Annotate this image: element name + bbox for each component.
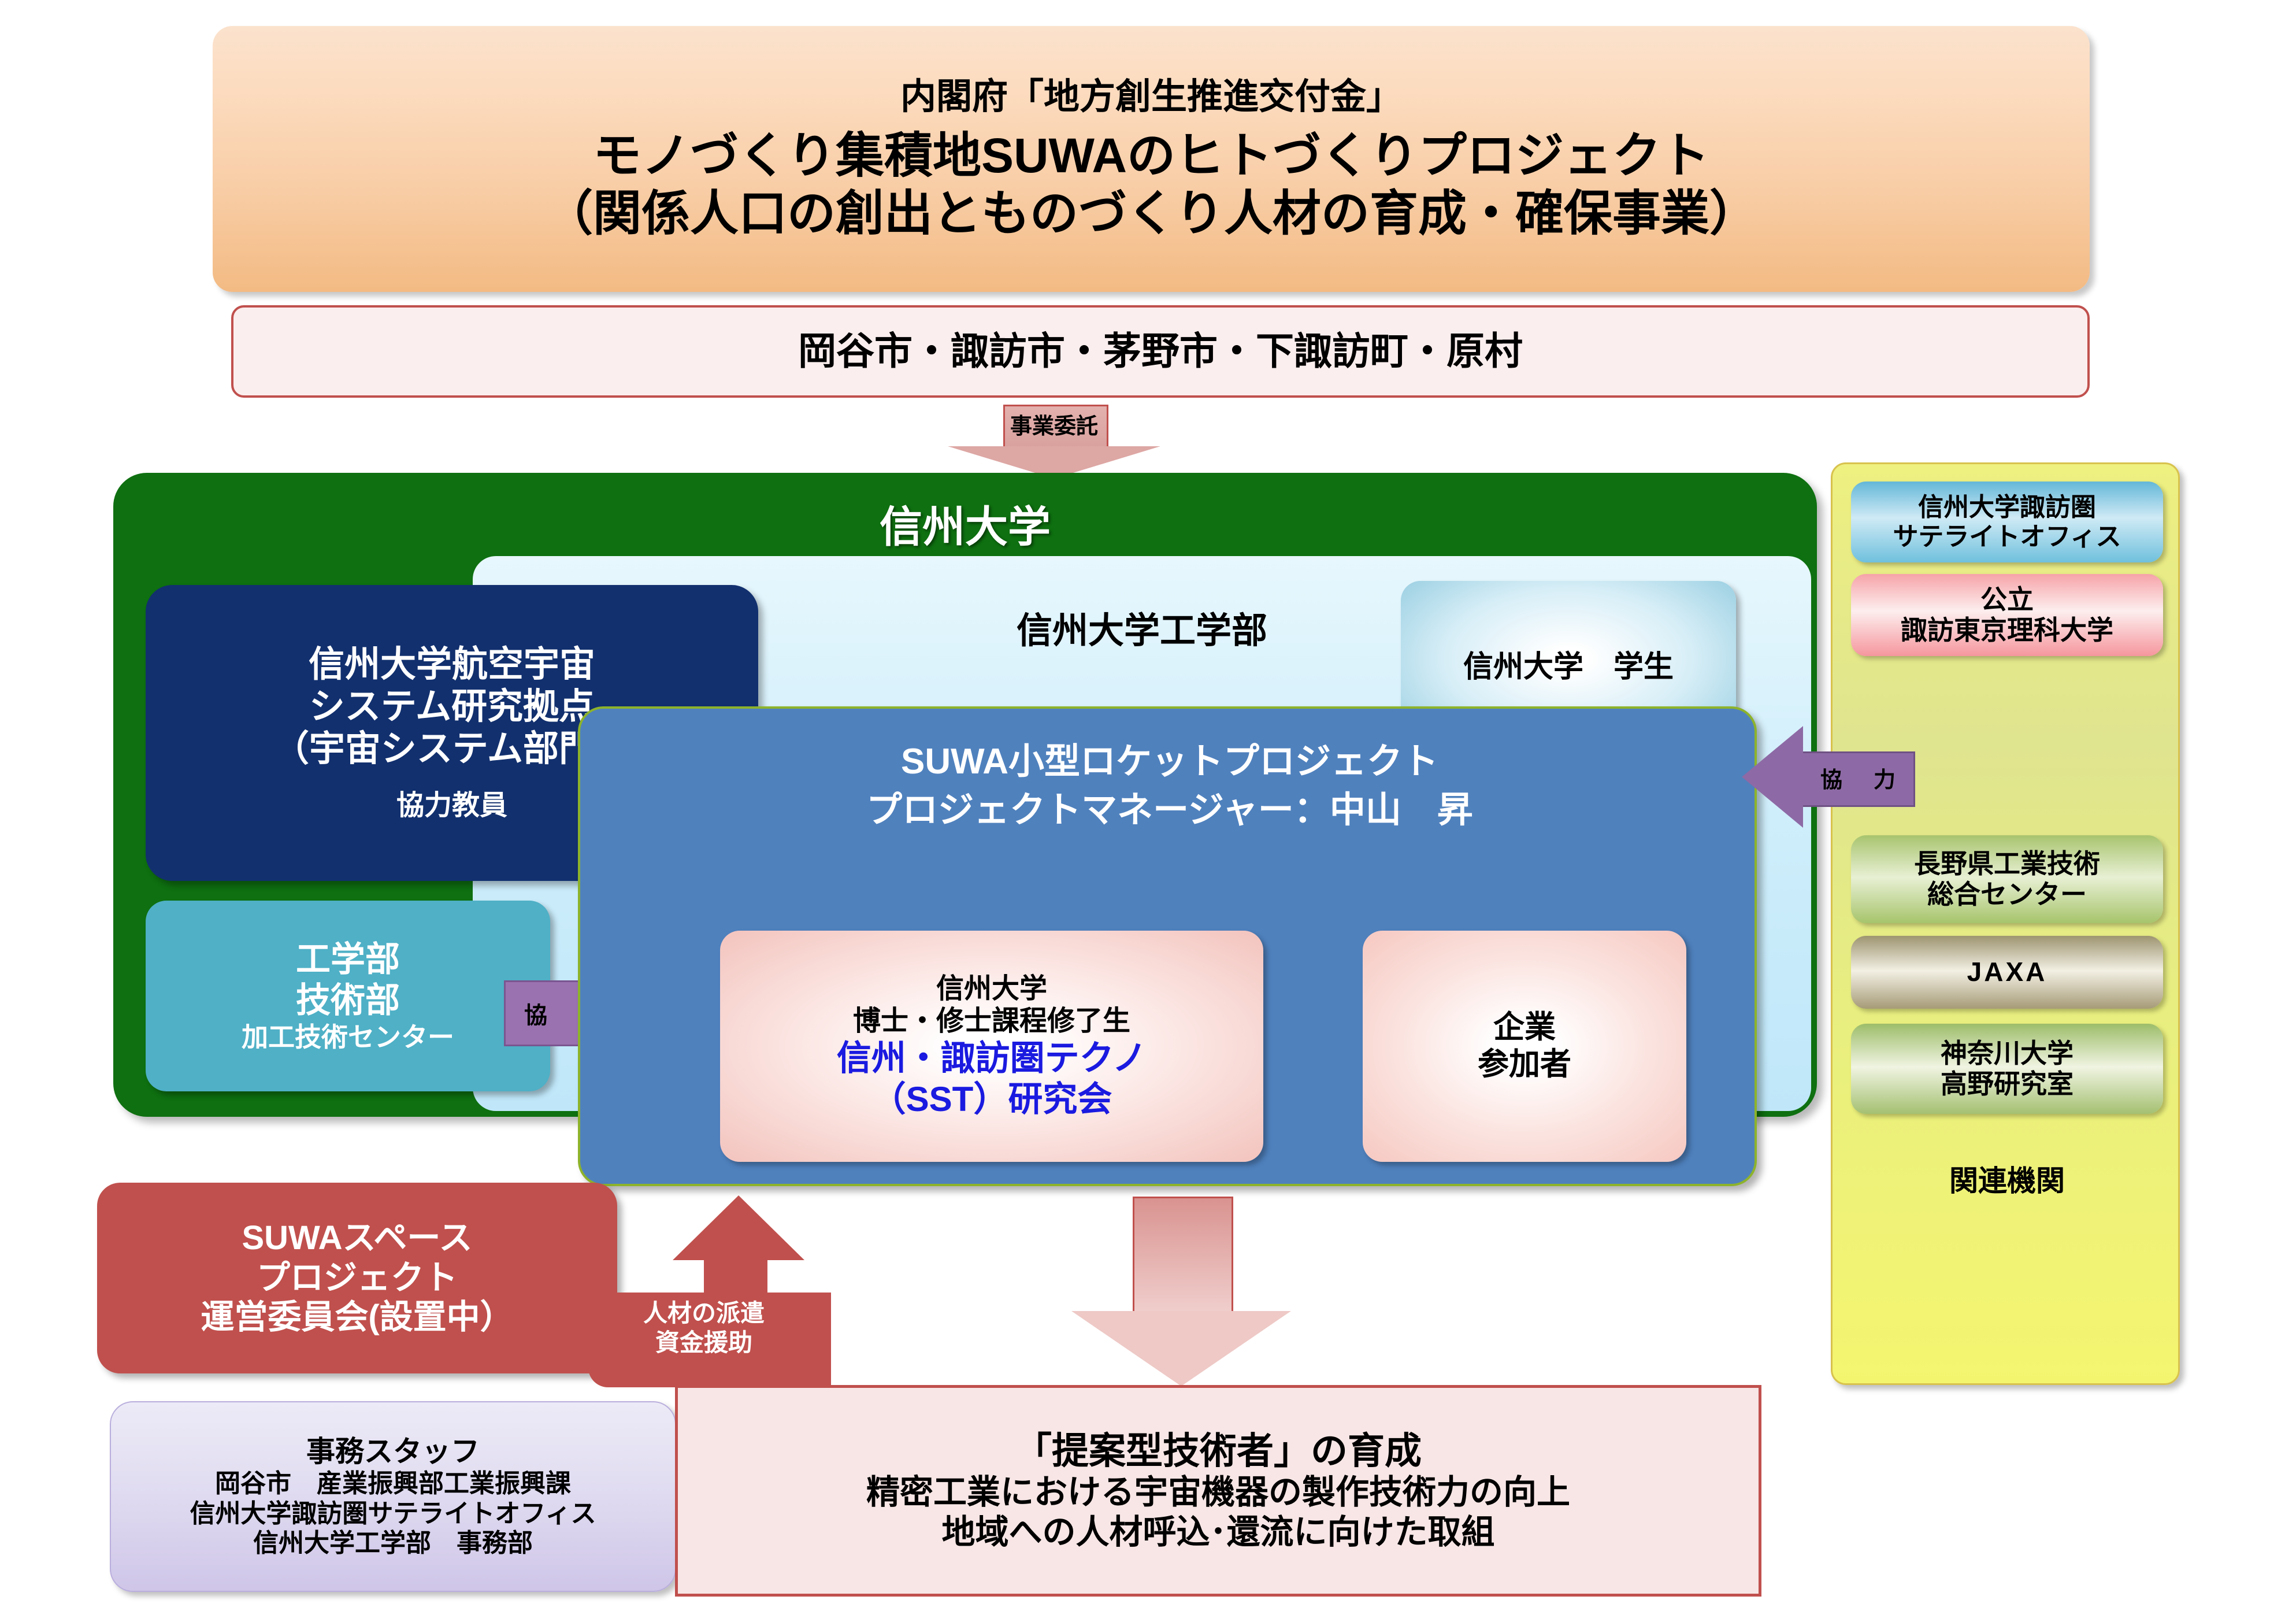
org-nagano-line1: 長野県工業技術 [1914,849,2100,879]
header-title-line1: モノづくり集積地SUWAのヒトづくりプロジェクト [593,127,1709,184]
aerospace-line1: 信州大学航空宇宙 [309,643,595,686]
students-label: 信州大学 学生 [1463,650,1674,685]
org-satellite-line2: サテライトオフィス [1893,522,2121,551]
outcome-line1: 「提案型技術者」の育成 [1015,1430,1422,1473]
suwa-space-line2: プロジェクト [257,1258,458,1298]
sst-line3: 信州・諏訪圏テクノ [837,1038,1147,1079]
org-nagano-line2: 総合センター [1927,879,2087,910]
company-line1: 企業 [1493,1009,1556,1046]
related-organizations-panel: 信州大学諏訪圏 サテライトオフィス 公立 諏訪東京理科大学 長野県工業技術 総合… [1831,462,2180,1385]
technical-department-box: 工学部 技術部 加工技術センター [146,901,550,1091]
outcome-line3: 地域への人材呼込･還流に向けた取組 [941,1513,1494,1552]
suwa-space-project-committee-box: SUWAスペース プロジェクト 運営委員会(設置中） [97,1183,617,1373]
rocket-project-manager: プロジェクトマネージャー：中山 昇 [580,780,1759,832]
org-suwa-tus-line1: 公立 [1980,584,2034,615]
outcome-line2: 精密工業における宇宙機器の製作技術力の向上 [866,1473,1570,1512]
dispatch-funding-arrow-icon: 人材の派遣 資金援助 [652,1195,825,1398]
org-satellite-line1: 信州大学諏訪圏 [1918,492,2096,522]
administrative-staff-box: 事務スタッフ 岡谷市 産業振興部工業振興課 信州大学諏訪圏サテライトオフィス 信… [110,1401,676,1592]
org-chip-suwa-tokyo-university-of-science: 公立 諏訪東京理科大学 [1851,574,2163,656]
technical-dept-line1: 工学部 [296,939,400,980]
org-chip-nagano-industrial-technology-center: 長野県工業技術 総合センター [1851,835,2163,923]
suwa-space-line1: SUWAスペース [242,1219,472,1258]
shinshu-university-title: 信州大学 [113,492,1817,554]
org-kanagawa-line2: 高野研究室 [1941,1069,2074,1099]
header-subtitle: 内閣府「地方創生推進交付金」 [900,76,1402,118]
municipalities-label: 岡谷市・諏訪市・茅野市・下諏訪町・原村 [798,329,1523,374]
aerospace-line2: システム研究拠点 [309,686,595,728]
rocket-project-title: SUWA小型ロケットプロジェクト [580,732,1759,784]
outcome-arrow-shaft [1133,1197,1233,1314]
cooperation-right-arrow-icon: 協 力 [1742,726,1915,828]
technical-dept-line3: 加工技術センター [242,1021,454,1053]
dispatch-arrow-label: 人材の派遣 資金援助 [611,1298,796,1357]
company-line2: 参加者 [1478,1046,1571,1083]
suwa-space-line3: 運営委員会(設置中） [201,1298,513,1337]
sst-line1: 信州大学 [936,973,1047,1006]
sst-research-group-box: 信州大学 博士・修士課程修了生 信州・諏訪圏テクノ （SST）研究会 [720,931,1263,1162]
cooperation-right-arrow-head [1742,726,1803,828]
outcome-box: 「提案型技術者」の育成 精密工業における宇宙機器の製作技術力の向上 地域への人材… [675,1385,1761,1597]
outcome-down-arrow-icon [1071,1197,1291,1387]
staff-line2: 信州大学諏訪圏サテライトオフィス [190,1499,596,1529]
org-chip-jaxa: JAXA [1851,936,2163,1009]
dispatch-arrow-head [673,1195,804,1260]
dispatch-label-line1: 人材の派遣 [611,1298,796,1328]
municipalities-box: 岡谷市・諏訪市・茅野市・下諏訪町・原村 [231,305,2090,398]
org-chip-satellite-office: 信州大学諏訪圏 サテライトオフィス [1851,482,2163,562]
header-banner: 内閣府「地方創生推進交付金」 モノづくり集積地SUWAのヒトづくりプロジェクト … [213,26,2090,292]
staff-line1: 岡谷市 産業振興部工業振興課 [215,1469,571,1499]
sst-line2: 博士・修士課程修了生 [853,1005,1130,1038]
staff-heading: 事務スタッフ [306,1435,480,1469]
outcome-arrow-head [1071,1311,1291,1386]
org-chip-kanagawa-university-takano-lab: 神奈川大学 高野研究室 [1851,1024,2163,1114]
entrust-arrow-label: 事業委託 [986,408,1122,440]
org-jaxa-line1: JAXA [1967,957,2048,987]
org-kanagawa-line1: 神奈川大学 [1941,1038,2074,1069]
org-suwa-tus-line2: 諏訪東京理科大学 [1901,615,2113,646]
aerospace-role: 協力教員 [396,790,507,823]
related-organizations-label: 関連機関 [1833,1158,2182,1199]
dispatch-label-line2: 資金援助 [611,1328,796,1357]
staff-line3: 信州大学工学部 事務部 [253,1528,533,1558]
entrust-arrow-icon: 事業委託 [986,405,1122,477]
technical-dept-line2: 技術部 [296,980,400,1021]
company-participants-box: 企業 参加者 [1363,931,1686,1162]
header-title-line2: （関係人口の創出とものづくり人材の育成・確保事業） [544,185,1758,242]
aerospace-line3: （宇宙システム部門） [273,728,630,770]
sst-line4: （SST）研究会 [871,1079,1112,1120]
cooperation-right-arrow-label: 協 力 [1805,762,1915,794]
